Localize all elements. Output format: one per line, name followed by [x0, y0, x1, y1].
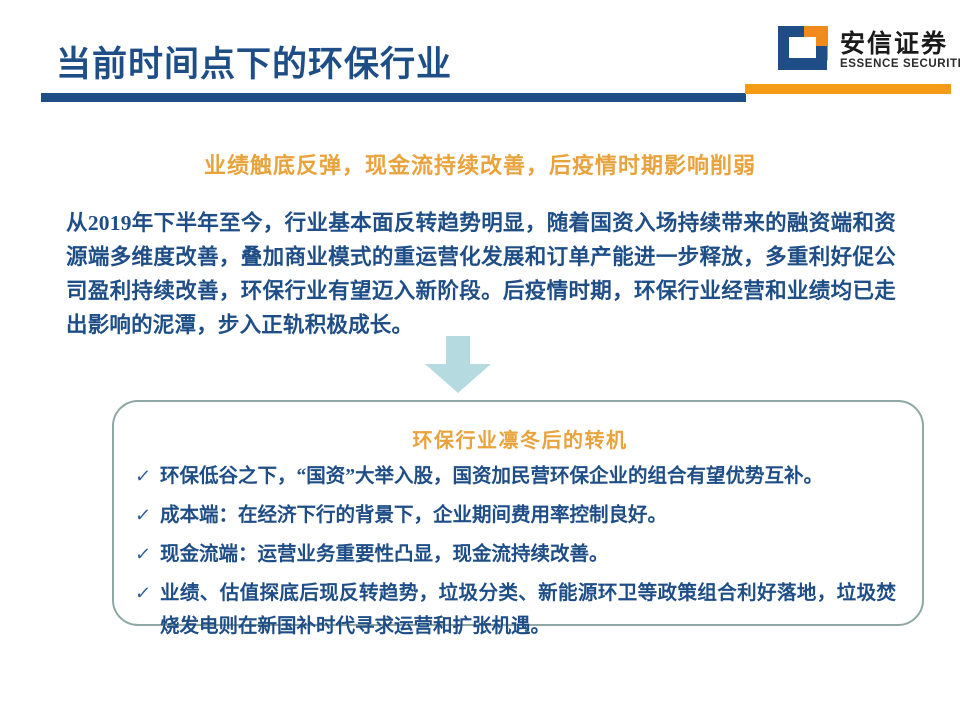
list-item-text: 成本端：在经济下行的背景下，企业期间费用率控制良好。 [160, 499, 896, 532]
list-item: ✓ 环保低谷之下，“国资”大举入股，国资加民营环保企业的组合有望优势互补。 [126, 460, 896, 493]
body-paragraph: 从2019年下半年至今，行业基本面反转趋势明显，随着国资入场持续带来的融资端和资… [66, 206, 896, 342]
callout-title: 环保行业凛冬后的转机 [114, 424, 926, 453]
check-icon: ✓ [124, 499, 163, 532]
list-item: ✓ 成本端：在经济下行的背景下，企业期间费用率控制良好。 [126, 499, 896, 532]
list-item-text: 现金流端：运营业务重要性凸显，现金流持续改善。 [160, 538, 896, 571]
check-icon: ✓ [124, 460, 163, 493]
down-arrow-icon [421, 336, 495, 394]
logo-name-en: ESSENCE SECURITIES [840, 58, 960, 70]
logo-name-cn: 安信证券 [840, 24, 948, 60]
slide-root: 当前时间点下的环保行业 安信证券 ESSENCE SECURITIES 业绩触底… [0, 0, 960, 720]
list-item: ✓ 业绩、估值探底后现反转趋势，垃圾分类、新能源环卫等政策组合利好落地，垃圾焚烧… [126, 577, 896, 643]
callout-box: 环保行业凛冬后的转机 ✓ 环保低谷之下，“国资”大举入股，国资加民营环保企业的组… [112, 400, 924, 626]
brand-logo: 安信证券 ESSENCE SECURITIES [778, 22, 954, 80]
header-rule-orange [745, 84, 951, 94]
list-item: ✓ 现金流端：运营业务重要性凸显，现金流持续改善。 [126, 538, 896, 571]
list-item-text: 业绩、估值探底后现反转趋势，垃圾分类、新能源环卫等政策组合利好落地，垃圾焚烧发电… [160, 577, 896, 643]
list-item-text: 环保低谷之下，“国资”大举入股，国资加民营环保企业的组合有望优势互补。 [160, 460, 896, 493]
page-title: 当前时间点下的环保行业 [56, 36, 452, 87]
check-icon: ✓ [124, 577, 163, 610]
check-icon: ✓ [124, 538, 163, 571]
essence-logo-icon [778, 24, 830, 72]
header-rule-blue [41, 93, 746, 102]
slide-subtitle: 业绩触底反弹，现金流持续改善，后疫情时期影响削弱 [0, 148, 960, 180]
callout-bullet-list: ✓ 环保低谷之下，“国资”大举入股，国资加民营环保企业的组合有望优势互补。 ✓ … [114, 460, 926, 649]
slide-header: 当前时间点下的环保行业 安信证券 ESSENCE SECURITIES [0, 0, 960, 110]
